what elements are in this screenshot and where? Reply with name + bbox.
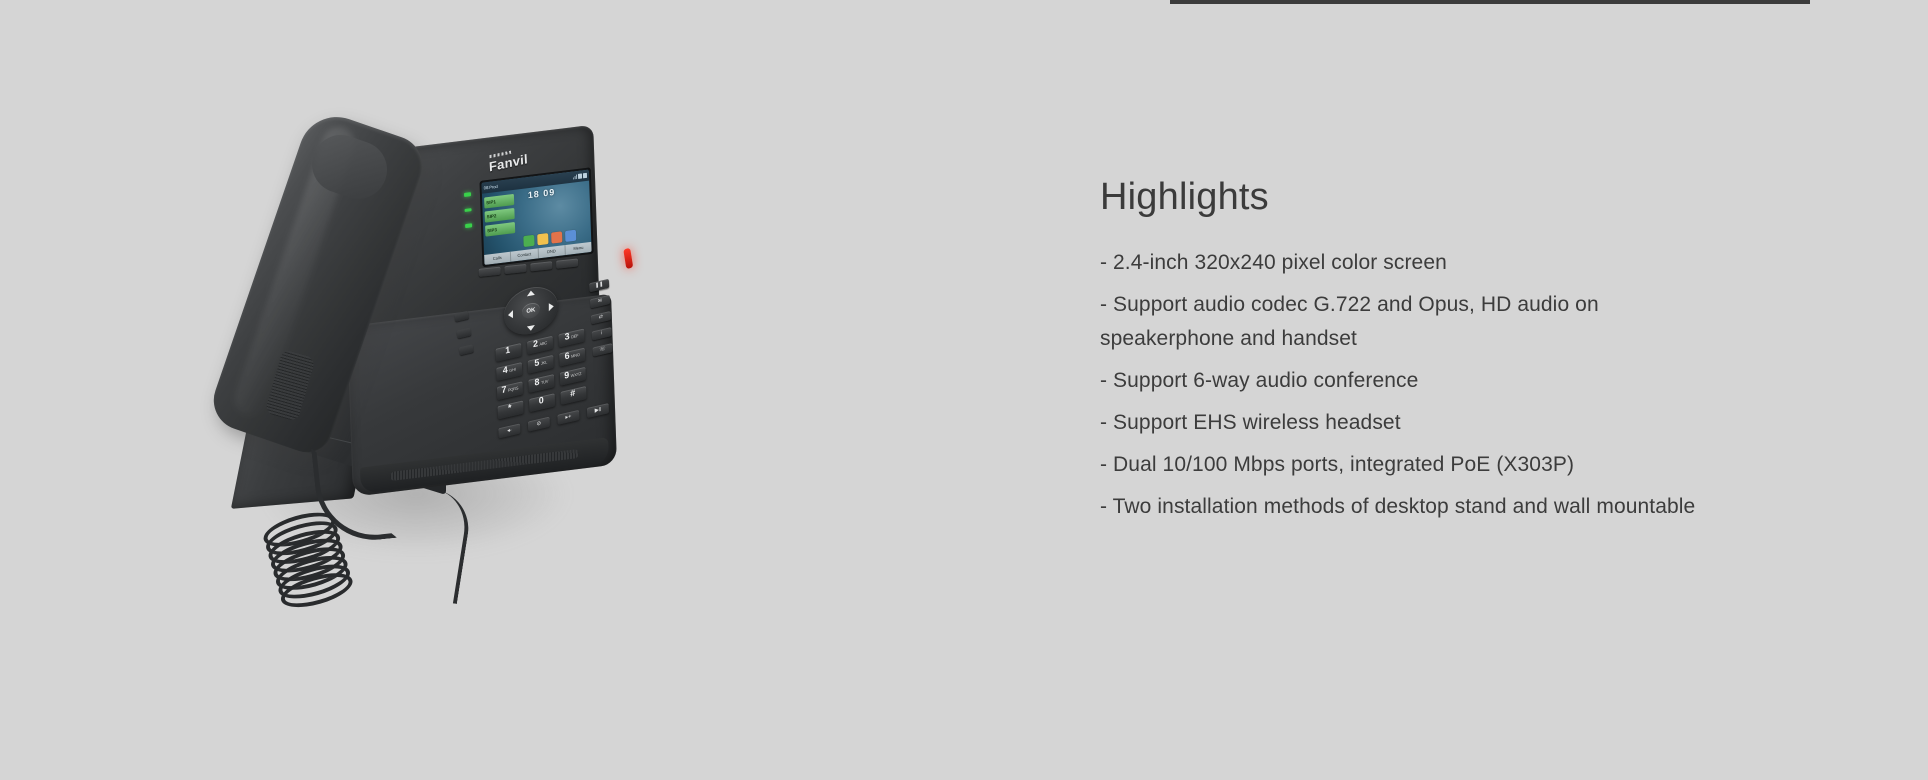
message-waiting-led (623, 248, 633, 269)
lcd-softkey-label: Menu (565, 242, 591, 255)
highlight-item: - Two installation methods of desktop st… (1100, 490, 1860, 524)
side-key (456, 327, 471, 338)
keypad-key-8: 8TUV (528, 374, 554, 393)
lcd-softkey-label: Calls (484, 252, 511, 265)
handset-coiled-cord (264, 444, 474, 604)
highlight-item: - 2.4-inch 320x240 pixel color screen (1100, 246, 1860, 280)
highlight-item: - Support EHS wireless headset (1100, 406, 1860, 440)
line-key-led-column (464, 192, 472, 227)
settings-app-icon (565, 230, 576, 242)
side-key (454, 311, 469, 322)
nav-down-arrow-icon (527, 325, 535, 332)
function-key-column: ❚❚ ✉ ⇄ i ☏ (589, 279, 613, 357)
lcd-screen: 08:Prod 18 09 SIP1 SIP2 SIP3 (482, 170, 592, 265)
lcd-softkey-label: DND (538, 245, 565, 258)
lcd-line-key: SIP3 (485, 222, 515, 237)
keypad-key-6: 6MNO (559, 348, 585, 367)
highlight-item: - Dual 10/100 Mbps ports, integrated PoE… (1100, 448, 1860, 482)
highlight-item: - Support audio codec G.722 and Opus, HD… (1100, 288, 1860, 356)
lcd-line-key: SIP2 (485, 208, 515, 223)
info-key: i (592, 327, 612, 341)
signal-icon (573, 174, 577, 180)
top-cropped-band (1170, 0, 1810, 4)
lcd-status-icons (573, 173, 587, 180)
transfer-key: ⇄ (591, 311, 611, 325)
lcd-screen-bezel: 08:Prod 18 09 SIP1 SIP2 SIP3 (480, 167, 594, 267)
line-key-led (465, 208, 472, 212)
lcd-line-key-list: SIP1 SIP2 SIP3 (484, 194, 515, 237)
lcd-status-text: 08:Prod (484, 184, 498, 191)
keypad-key-9: 9WXYZ (560, 367, 586, 386)
lcd-clock: 18 09 (528, 187, 556, 200)
nav-right-arrow-icon (549, 302, 554, 311)
battery-icon (583, 173, 587, 179)
nav-ok-button: OK (522, 301, 540, 320)
nav-left-arrow-icon (508, 310, 513, 319)
phone-app-icon (523, 235, 534, 247)
network-icon (578, 173, 582, 179)
lcd-softkey-label: Contact (511, 248, 538, 261)
cord-lower-segment (372, 482, 474, 604)
keypad-key-5: 5JKL (528, 355, 554, 374)
highlights-list: - 2.4-inch 320x240 pixel color screen - … (1100, 246, 1860, 524)
line-key-led (464, 192, 471, 196)
keypad-key-7: 7PQRS (497, 381, 523, 400)
keypad-key-4: 4GHI (496, 362, 522, 381)
highlights-panel: Highlights - 2.4-inch 320x240 pixel colo… (1100, 178, 1860, 532)
highlight-item: - Support 6-way audio conference (1100, 364, 1860, 398)
product-stage: Fanvil 08:Prod 18 09 SIP1 (236, 104, 636, 604)
message-key: ✉ (590, 295, 610, 309)
lcd-line-key: SIP1 (484, 194, 514, 209)
notes-app-icon (537, 233, 548, 245)
page-title: Highlights (1100, 178, 1860, 216)
contacts-app-icon (551, 231, 562, 243)
product-image-fanvil-phone: Fanvil 08:Prod 18 09 SIP1 (236, 104, 636, 604)
nav-up-arrow-icon (527, 290, 535, 297)
